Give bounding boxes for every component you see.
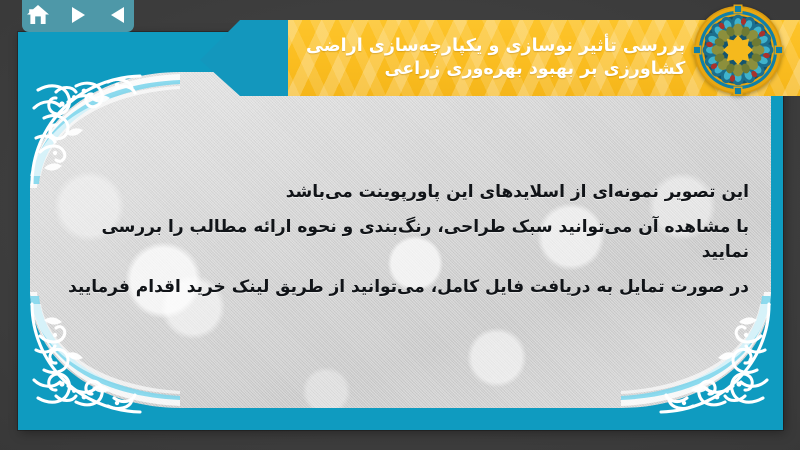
previous-slide-button[interactable] <box>105 3 131 27</box>
corner-arc-bottom-left-icon <box>30 290 180 408</box>
body-line-2: با مشاهده آن می‌توانید سبک طراحی، رنگ‌بن… <box>52 215 749 266</box>
next-triangle-icon <box>67 5 89 25</box>
slide-viewer: این تصویر نمونه‌ای از اسلایدهای این پاور… <box>0 0 800 450</box>
body-line-1: این تصویر نمونه‌ای از اسلایدهای این پاور… <box>52 180 749 206</box>
slide-canvas[interactable]: این تصویر نمونه‌ای از اسلایدهای این پاور… <box>18 32 783 430</box>
next-slide-button[interactable] <box>65 3 91 27</box>
prev-triangle-icon <box>107 5 129 25</box>
home-icon <box>26 4 50 26</box>
corner-arc-bottom-right-icon <box>621 290 771 408</box>
navigation-toolbar <box>22 0 134 32</box>
corner-arc-top-left-icon <box>30 72 180 190</box>
slide-content-plate: این تصویر نمونه‌ای از اسلایدهای این پاور… <box>30 72 771 408</box>
body-line-3: در صورت تمایل به دریافت فایل کامل، می‌تو… <box>52 275 749 301</box>
home-button[interactable] <box>25 3 51 27</box>
slide-body-text: این تصویر نمونه‌ای از اسلایدهای این پاور… <box>52 180 749 300</box>
